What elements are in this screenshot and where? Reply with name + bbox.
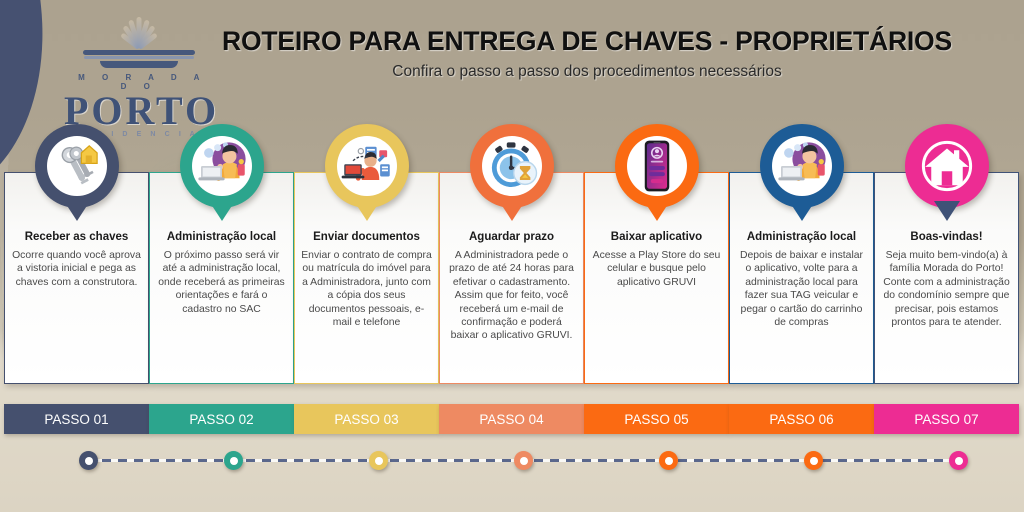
step-title-7: Boas-vindas! — [880, 231, 1013, 244]
step-card-7[interactable]: Boas-vindas! Seja muito bem-vindo(a) à f… — [874, 172, 1019, 384]
logo-boat-hull-icon — [100, 61, 178, 68]
step-title-3: Enviar documentos — [300, 231, 433, 244]
step-title-5: Baixar aplicativo — [590, 231, 723, 244]
logo-rays — [64, 8, 214, 48]
timeline — [0, 448, 1024, 474]
step-title-1: Receber as chaves — [10, 231, 143, 244]
step-footer-1[interactable]: PASSO 01 — [4, 404, 149, 434]
step-footer-7[interactable]: PASSO 07 — [874, 404, 1019, 434]
stopwatch-hourglass-icon — [484, 138, 540, 194]
step-body-4: A Administradora pede o prazo de até 24 … — [446, 249, 577, 343]
step-footer-3[interactable]: PASSO 03 — [294, 404, 439, 434]
brand-logo: M O R A D A D O PORTO R E S I D E N C I … — [64, 8, 214, 126]
step-body-5: Acesse a Play Store do seu celular e bus… — [591, 249, 722, 289]
infographic-root: M O R A D A D O PORTO R E S I D E N C I … — [0, 0, 1024, 512]
timeline-dot-1[interactable] — [79, 451, 98, 470]
person-laptop-icon — [194, 138, 250, 194]
step-body-7: Seja muito bem-vindo(a) à família Morada… — [881, 249, 1012, 329]
step-body-2: O próximo passo será vir até a administr… — [156, 249, 287, 316]
step-card-3[interactable]: Enviar documentos Enviar o contrato de c… — [294, 172, 439, 384]
step-pin-1 — [35, 124, 119, 208]
step-footer-4[interactable]: PASSO 04 — [439, 404, 584, 434]
step-card-6[interactable]: Administração local Depois de baixar e i… — [729, 172, 874, 384]
keys-icon — [49, 138, 105, 194]
house-icon — [919, 138, 975, 194]
step-footer-row: PASSO 01 PASSO 02 PASSO 03 PASSO 04 PASS… — [4, 404, 1020, 434]
timeline-dot-4[interactable] — [514, 451, 533, 470]
timeline-dot-2[interactable] — [224, 451, 243, 470]
step-pin-3 — [325, 124, 409, 208]
logo-boat-icon — [83, 50, 195, 55]
timeline-dot-5[interactable] — [659, 451, 678, 470]
person-desk-documents-icon — [339, 138, 395, 194]
step-card-2[interactable]: Administração local O próximo passo será… — [149, 172, 294, 384]
person-laptop-icon — [774, 138, 830, 194]
step-title-4: Aguardar prazo — [445, 231, 578, 244]
step-card-4[interactable]: Aguardar prazo A Administradora pede o p… — [439, 172, 584, 384]
page-subtitle: Confira o passo a passo dos procedimento… — [222, 63, 952, 81]
step-title-2: Administração local — [155, 231, 288, 244]
step-card-5[interactable]: Baixar aplicativo Acesse a Play Store do… — [584, 172, 729, 384]
step-title-6: Administração local — [735, 231, 868, 244]
step-body-6: Depois de baixar e instalar o aplicativo… — [736, 249, 867, 329]
step-footer-2[interactable]: PASSO 02 — [149, 404, 294, 434]
timeline-dot-3[interactable] — [369, 451, 388, 470]
step-pin-4 — [470, 124, 554, 208]
timeline-dot-7[interactable] — [949, 451, 968, 470]
step-body-1: Ocorre quando você aprova a vistoria ini… — [11, 249, 142, 289]
step-pin-6 — [760, 124, 844, 208]
step-card-1[interactable]: Receber as chaves Ocorre quando você apr… — [4, 172, 149, 384]
page-title: ROTEIRO PARA ENTREGA DE CHAVES - PROPRIE… — [222, 26, 952, 57]
step-footer-6[interactable]: PASSO 06 — [729, 404, 874, 434]
step-pin-7 — [905, 124, 989, 208]
step-pin-5 — [615, 124, 699, 208]
step-body-3: Enviar o contrato de compra ou matrícula… — [301, 249, 432, 329]
steps-card-row: Receber as chaves Ocorre quando você apr… — [4, 172, 1020, 384]
step-footer-5[interactable]: PASSO 05 — [584, 404, 729, 434]
step-pin-2 — [180, 124, 264, 208]
timeline-dot-6[interactable] — [804, 451, 823, 470]
smartphone-app-icon — [629, 138, 685, 194]
